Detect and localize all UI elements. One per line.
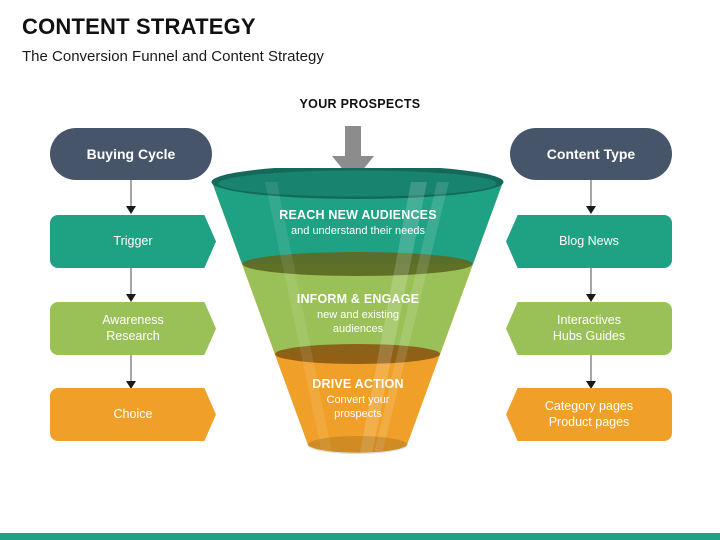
connector-arrow-left-3 [118, 355, 144, 391]
funnel-stage-2-subtext: Convert yourprospects [243, 393, 473, 422]
connector-arrow-left-1 [118, 180, 144, 216]
buying-cycle-item-trigger[interactable]: Trigger [50, 215, 216, 268]
connector-arrow-right-1 [578, 180, 604, 216]
connector-arrow-right-2 [578, 268, 604, 304]
buying-cycle-column: Buying Cycle Trigger AwarenessResearch C… [50, 0, 216, 540]
connector-arrow-left-2 [118, 268, 144, 304]
footer-accent-bar [0, 533, 720, 540]
funnel-stage-1-subtext: new and existingaudiences [243, 308, 473, 337]
content-type-column: Content Type Blog News InteractivesHubs … [506, 0, 672, 540]
slide-canvas: CONTENT STRATEGY The Conversion Funnel a… [0, 0, 720, 540]
content-type-header[interactable]: Content Type [510, 128, 672, 180]
funnel-stage-0-heading: REACH NEW AUDIENCES [243, 208, 473, 224]
funnel-stage-0-label: REACH NEW AUDIENCES and understand their… [243, 208, 473, 238]
content-type-item-blog-news-label: Blog News [559, 234, 619, 250]
buying-cycle-item-choice[interactable]: Choice [50, 388, 216, 441]
buying-cycle-header[interactable]: Buying Cycle [50, 128, 212, 180]
content-type-item-category-pages-label: Category pagesProduct pages [545, 399, 633, 430]
funnel-stage-2-label: DRIVE ACTION Convert yourprospects [243, 377, 473, 421]
funnel-stage-1-label: INFORM & ENGAGE new and existingaudience… [243, 292, 473, 336]
funnel-stage-1-heading: INFORM & ENGAGE [243, 292, 473, 308]
buying-cycle-item-awareness[interactable]: AwarenessResearch [50, 302, 216, 355]
buying-cycle-item-awareness-label: AwarenessResearch [102, 313, 164, 344]
content-type-item-blog-news[interactable]: Blog News [506, 215, 672, 268]
content-type-item-interactives-label: InteractivesHubs Guides [553, 313, 625, 344]
connector-arrow-right-3 [578, 355, 604, 391]
buying-cycle-item-choice-label: Choice [114, 407, 153, 423]
funnel-stage-0-subtext: and understand their needs [243, 224, 473, 238]
buying-cycle-item-trigger-label: Trigger [113, 234, 152, 250]
funnel-bottom-shadow [308, 436, 408, 454]
funnel-stage-2-heading: DRIVE ACTION [243, 377, 473, 393]
content-type-item-category-pages[interactable]: Category pagesProduct pages [506, 388, 672, 441]
content-type-item-interactives[interactable]: InteractivesHubs Guides [506, 302, 672, 355]
